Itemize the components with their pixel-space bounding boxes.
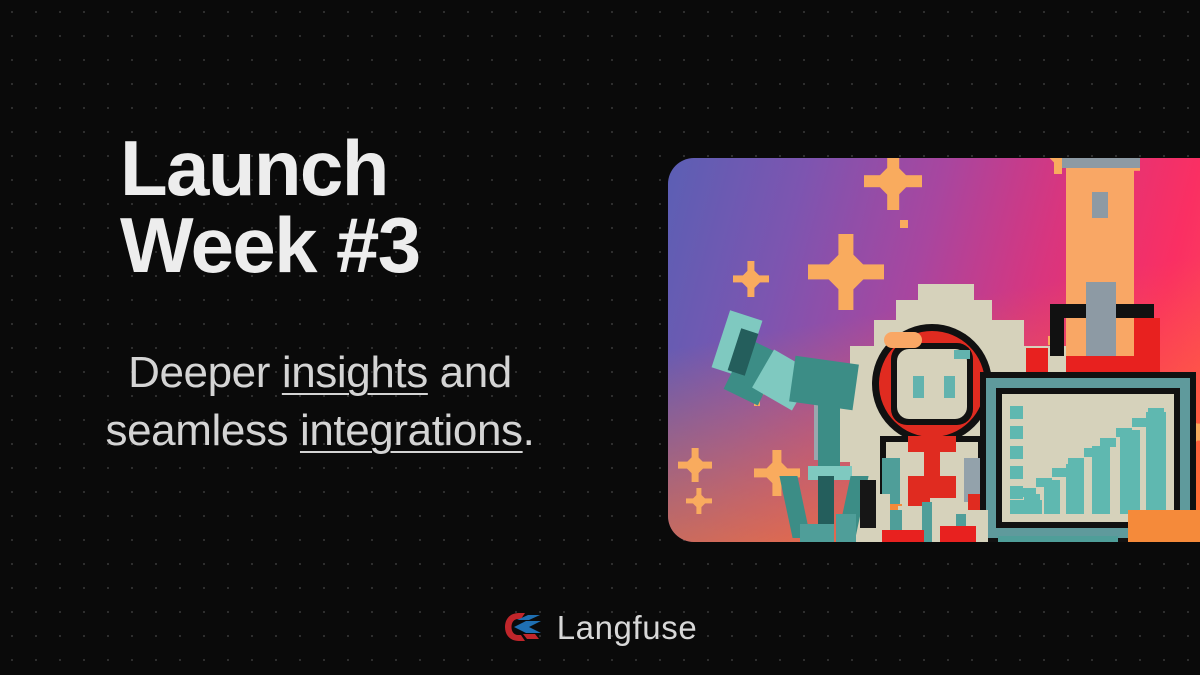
smoke-plume xyxy=(918,284,974,306)
rocket-band xyxy=(1062,158,1140,168)
chart-axis-tick xyxy=(1010,466,1023,479)
astronaut-helmet-highlight xyxy=(884,332,922,348)
subtitle-lead: Deeper xyxy=(128,348,282,397)
astronaut-eye xyxy=(913,376,924,398)
chart-trend-segment xyxy=(1132,418,1148,427)
langfuse-logo-mark-icon xyxy=(503,610,543,644)
chart-trend-segment xyxy=(1100,438,1116,447)
sparkle-star-icon xyxy=(686,488,712,514)
ground-debris xyxy=(1128,510,1200,542)
chart-trend-segment xyxy=(1116,428,1132,437)
sparkle-star-icon xyxy=(864,158,922,210)
rocket-fin-outline xyxy=(1050,304,1064,356)
ground-shadow xyxy=(860,480,876,528)
chart-bar xyxy=(1024,494,1040,514)
chart-bar xyxy=(1146,412,1166,514)
illustration-clip xyxy=(668,158,1200,542)
astronaut-eye xyxy=(944,376,955,398)
chart-bar xyxy=(1066,464,1084,514)
chart-trend-segment xyxy=(1148,408,1164,417)
astronaut-collar xyxy=(924,450,940,476)
subtitle-emphasis-insights: insights xyxy=(282,348,428,397)
astronaut-visor-glare xyxy=(954,350,970,359)
chart-trend-segment xyxy=(1052,468,1068,477)
chart-trend-segment xyxy=(1036,478,1052,487)
chart-axis-tick xyxy=(1010,406,1023,419)
chart-trend-segment xyxy=(1020,488,1036,497)
hero-copy-column: Launch Week #3 Deeper insights and seaml… xyxy=(0,0,640,590)
sparkle-star-icon xyxy=(678,448,712,482)
ground-debris xyxy=(800,524,834,542)
ground-debris xyxy=(882,530,924,542)
launch-week-announcement-card: Launch Week #3 Deeper insights and seaml… xyxy=(0,0,1200,675)
page-title: Launch Week #3 xyxy=(120,130,520,284)
subtitle-trailing: . xyxy=(523,406,535,455)
chart-bar xyxy=(1120,430,1140,514)
subtitle-emphasis-integrations: integrations xyxy=(300,406,523,455)
sparkle-star-icon xyxy=(733,261,769,297)
chart-trend-segment xyxy=(1084,448,1100,457)
rocket-exhaust xyxy=(1134,318,1160,378)
rocket-window xyxy=(1092,192,1108,218)
chart-trend-segment xyxy=(1068,458,1084,467)
ground-debris xyxy=(940,526,976,542)
hero-subtitle: Deeper insights and seamless integration… xyxy=(70,344,570,460)
sparkle-star-icon xyxy=(808,234,884,310)
ground-debris xyxy=(836,514,856,542)
ground-debris xyxy=(998,536,1118,542)
illustration-card xyxy=(668,158,1200,542)
astronaut-visor xyxy=(897,349,967,419)
brand-wordmark: Langfuse xyxy=(557,611,698,644)
chart-axis-tick xyxy=(1010,426,1023,439)
chart-axis-tick xyxy=(1010,446,1023,459)
dot-star xyxy=(900,220,908,228)
brand-lockup: Langfuse xyxy=(0,599,1200,655)
